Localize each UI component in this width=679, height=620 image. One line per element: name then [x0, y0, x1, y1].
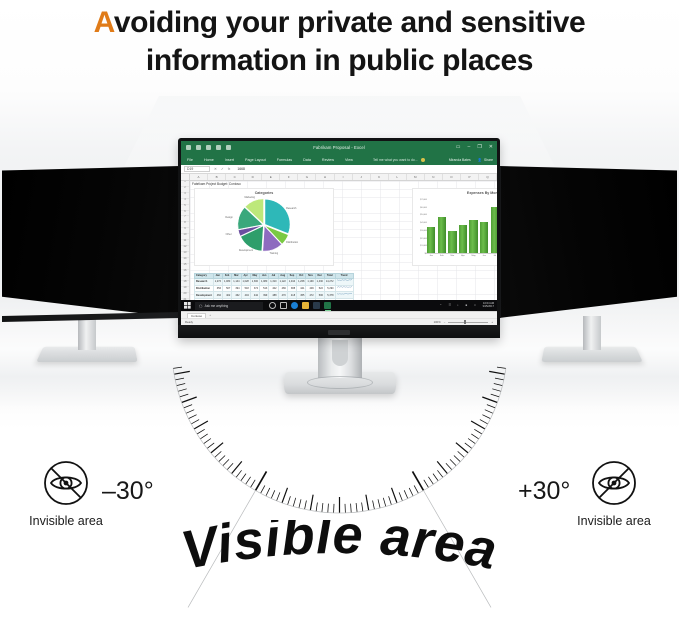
- table-cell[interactable]: 442: [250, 292, 259, 299]
- protractor-tick-major: [310, 495, 313, 511]
- tab-data[interactable]: Data: [303, 158, 311, 162]
- tab-page-layout[interactable]: Page Layout: [245, 158, 266, 162]
- sparkline-cell[interactable]: [335, 292, 353, 299]
- bar: [480, 222, 488, 253]
- bar-chart-y-tick: $0: [414, 253, 427, 255]
- column-header-m[interactable]: M: [407, 174, 425, 180]
- search-input[interactable]: ◯ Ask me anything: [195, 302, 263, 310]
- bar: [459, 225, 467, 253]
- excel-window: Fabrikam Proposal - Excel ▭ – ❐ ✕ File H…: [181, 141, 497, 325]
- protractor-tick-minor: [322, 503, 323, 512]
- table-cell[interactable]: 1,276: [213, 278, 222, 285]
- tab-review[interactable]: Review: [322, 158, 334, 162]
- protractor-tick-minor: [480, 420, 488, 424]
- zoom-in-button[interactable]: +: [491, 320, 493, 324]
- clock-date: 3/15/2017: [482, 306, 494, 309]
- column-header-n[interactable]: N: [425, 174, 443, 180]
- zoom-out-button[interactable]: −: [444, 320, 446, 324]
- table-cell[interactable]: 402: [222, 292, 231, 299]
- table-cell[interactable]: 518: [241, 285, 250, 292]
- protractor-tick-minor: [491, 394, 500, 397]
- scene-background: Avoiding your private and sensitive info…: [0, 0, 679, 620]
- tab-insert[interactable]: Insert: [225, 158, 234, 162]
- column-header-h[interactable]: H: [316, 174, 334, 180]
- protractor-tick-minor: [485, 410, 493, 414]
- task-view-icon[interactable]: [280, 302, 287, 309]
- column-header-o[interactable]: O: [443, 174, 461, 180]
- protractor-tick-minor: [373, 501, 375, 510]
- title-line-1-rest: voiding your private and sensitive: [114, 6, 586, 39]
- spreadsheet-grid[interactable]: 12345678910111213141516171819202122 Fabr…: [181, 181, 497, 311]
- bar-chart-y-tick: $5,000: [414, 214, 427, 216]
- protractor-tick-major: [282, 488, 288, 503]
- protractor-tick-minor: [316, 503, 317, 512]
- formula-bar[interactable]: D19 ✕ ✓ fx 1668: [181, 165, 497, 174]
- table-cell[interactable]: 409: [306, 285, 315, 292]
- table-cell-category[interactable]: Development: [195, 292, 214, 299]
- pie-slice-label: Research: [286, 207, 296, 210]
- tell-me-box[interactable]: Tell me what you want to do...: [373, 158, 425, 162]
- right-monitor-screen-blacked-out: [499, 166, 677, 318]
- pie-slice-label: Development: [239, 249, 253, 252]
- store-icon[interactable]: [313, 302, 320, 309]
- bar-chart-y-axis: $7,000$6,000$5,000$4,000$3,000$2,000$1,0…: [414, 199, 427, 255]
- protractor-tick-minor: [399, 492, 402, 500]
- visible-area-label: Visible area: [0, 520, 679, 610]
- table-cell[interactable]: 466: [278, 285, 287, 292]
- protractor-tick-minor: [497, 367, 506, 368]
- status-ready-label: Ready: [185, 320, 193, 324]
- protractor-tick-minor: [487, 405, 495, 408]
- table-cell[interactable]: 1,190: [306, 278, 315, 285]
- protractor-tick-minor: [468, 439, 475, 444]
- lightbulb-icon: [421, 158, 425, 162]
- table-cell[interactable]: 460: [213, 292, 222, 299]
- account-name[interactable]: Miranda Bates: [449, 158, 471, 162]
- tab-formulas[interactable]: Formulas: [277, 158, 292, 162]
- close-icon[interactable]: ✕: [489, 145, 493, 150]
- title-line-2: information in public places: [0, 42, 679, 80]
- bar-chart-bars: [427, 196, 497, 254]
- protractor-tick-minor: [454, 456, 460, 462]
- table-cell[interactable]: 441: [297, 285, 306, 292]
- bar: [448, 231, 456, 253]
- zoom-track[interactable]: [448, 322, 488, 323]
- column-header-d[interactable]: D: [244, 174, 262, 180]
- protractor-tick-minor: [428, 477, 433, 485]
- table-cell[interactable]: 1,430: [315, 278, 324, 285]
- protractor-tick-minor: [191, 420, 199, 424]
- table-cell[interactable]: 402: [269, 285, 278, 292]
- table-cell[interactable]: 455: [297, 292, 306, 299]
- add-sheet-button[interactable]: +: [209, 313, 211, 317]
- protractor-tick-minor: [184, 405, 192, 408]
- table-cell[interactable]: 14,272: [324, 278, 335, 285]
- window-controls[interactable]: ▭ – ❐ ✕: [456, 145, 493, 150]
- protractor-tick-minor: [474, 429, 482, 434]
- table-cell[interactable]: 506: [315, 292, 324, 299]
- table-cell-category[interactable]: Distribution: [195, 285, 214, 292]
- eye-blocked-icon: [591, 460, 637, 506]
- protractor-tick-minor: [471, 434, 479, 439]
- table-cell[interactable]: 5,378: [324, 292, 335, 299]
- protractor-tick-minor: [175, 378, 184, 380]
- table-cell[interactable]: 388: [287, 285, 296, 292]
- right-monitor-stand-neck: [583, 316, 601, 350]
- table-cell[interactable]: 1,080: [222, 278, 231, 285]
- row-headers[interactable]: 12345678910111213141516171819202122: [181, 181, 190, 311]
- share-label: Share: [484, 158, 493, 162]
- sparkline-cell[interactable]: [335, 285, 353, 292]
- bar: [438, 217, 446, 253]
- column-header-p[interactable]: P: [461, 174, 479, 180]
- protractor-tick-minor: [433, 474, 438, 481]
- status-line: Ready 100% − +: [181, 318, 497, 325]
- protractor-tick-minor: [465, 443, 472, 449]
- column-header-f[interactable]: F: [280, 174, 298, 180]
- pie-slice-label: Marketing: [244, 196, 255, 199]
- protractor-tick-minor: [450, 459, 456, 465]
- table-cell[interactable]: 1,044: [287, 278, 296, 285]
- protractor-tick-minor: [261, 485, 265, 493]
- bar-chart-x-tick: Jan: [427, 255, 435, 257]
- protractor-tick-minor: [482, 415, 490, 419]
- bar: [491, 207, 497, 253]
- protractor-tick-30: [256, 471, 267, 490]
- table-cell[interactable]: 1,028: [241, 278, 250, 285]
- protractor-tick-minor: [236, 470, 242, 477]
- cancel-formula-icon[interactable]: ✕: [214, 167, 217, 171]
- zoom-knob[interactable]: [464, 320, 466, 324]
- bar-chart-x-tick: Apr: [459, 255, 467, 257]
- excel-status-bar: Contoso + Ready 100% − +: [181, 311, 497, 325]
- tab-home[interactable]: Home: [204, 158, 214, 162]
- left-monitor-screen-blacked-out: [2, 166, 180, 318]
- excel-title-bar: Fabrikam Proposal - Excel ▭ – ❐ ✕: [181, 141, 497, 154]
- edge-icon[interactable]: [291, 302, 298, 309]
- bar-chart-title: Expenses By Month: [413, 189, 497, 195]
- bar-chart-x-tick: Feb: [438, 255, 446, 257]
- column-header-b[interactable]: B: [208, 174, 226, 180]
- page-title: Avoiding your private and sensitive info…: [0, 0, 679, 81]
- table-cell[interactable]: 522: [315, 285, 324, 292]
- table-cell[interactable]: 470: [278, 292, 287, 299]
- formula-bar-value[interactable]: 1668: [237, 167, 245, 171]
- tab-view[interactable]: View: [345, 158, 353, 162]
- invisible-area-badge-right: Invisible area: [562, 460, 666, 528]
- table-cell[interactable]: 1,268: [297, 278, 306, 285]
- center-monitor-bezel: Fabrikam Proposal - Excel ▭ – ❐ ✕ File H…: [178, 138, 500, 338]
- table-cell[interactable]: 418: [287, 292, 296, 299]
- table-cell[interactable]: 1,300: [250, 278, 259, 285]
- protractor-tick-major: [232, 461, 242, 473]
- protractor-tick-minor: [204, 439, 211, 444]
- protractor-tick-minor: [437, 470, 443, 477]
- sheet-tab-contoso[interactable]: Contoso: [187, 313, 206, 318]
- protractor-tick-minor: [414, 485, 418, 493]
- table-cell[interactable]: 507: [222, 285, 231, 292]
- bar-chart-x-tick: Mar: [448, 255, 456, 257]
- restore-icon[interactable]: ❐: [477, 145, 481, 150]
- center-monitor-screen: Fabrikam Proposal - Excel ▭ – ❐ ✕ File H…: [181, 141, 497, 325]
- protractor-tick-major: [392, 488, 398, 503]
- protractor-tick-minor: [197, 429, 205, 434]
- battery-icon[interactable]: ■: [465, 303, 470, 308]
- protractor-tick-minor: [492, 389, 501, 392]
- pie-chart-svg: [233, 197, 295, 253]
- windows-taskbar[interactable]: ◯ Ask me anything ^ ☰ ♪: [181, 300, 497, 311]
- table-cell[interactable]: 1,122: [278, 278, 287, 285]
- right-monitor: [499, 166, 677, 318]
- column-header-e[interactable]: E: [262, 174, 280, 180]
- protractor-tick-minor: [180, 394, 189, 397]
- protractor-tick-minor: [246, 477, 251, 485]
- bar-chart-y-tick: $2,000: [414, 238, 427, 240]
- excel-document-title: Fabrikam Proposal - Excel: [181, 145, 497, 150]
- table-cell[interactable]: 5,290: [324, 285, 335, 292]
- center-monitor: Fabrikam Proposal - Excel ▭ – ❐ ✕ File H…: [178, 138, 500, 338]
- table-row[interactable]: Development46040246240444239948847041845…: [195, 292, 354, 299]
- protractor-tick-major: [456, 443, 468, 453]
- column-header-i[interactable]: I: [335, 174, 353, 180]
- table-cell[interactable]: 394: [232, 285, 241, 292]
- bar-chart-x-tick: Jul: [491, 255, 497, 257]
- protractor-tick-minor: [356, 503, 357, 512]
- search-placeholder: Ask me anything: [205, 304, 229, 308]
- protractor-tick-minor: [189, 415, 197, 419]
- column-header-g[interactable]: G: [298, 174, 316, 180]
- table-cell[interactable]: 374: [250, 285, 259, 292]
- protractor-tick-minor: [241, 474, 246, 481]
- protractor-tick-minor: [495, 378, 504, 380]
- table-cell[interactable]: 399: [260, 292, 269, 299]
- protractor-tick-minor: [362, 503, 363, 512]
- protractor-tick-minor: [288, 496, 291, 505]
- pie-slice-label: Distribution: [286, 241, 298, 244]
- protractor-tick-minor: [378, 499, 380, 508]
- protractor-tick-minor: [266, 488, 270, 496]
- file-explorer-icon[interactable]: [302, 302, 309, 309]
- table-cell[interactable]: 356: [213, 285, 222, 292]
- protractor-tick-minor: [409, 488, 413, 496]
- protractor-tick-minor: [186, 410, 194, 414]
- bar-chart-y-tick: $1,000: [414, 245, 427, 247]
- share-button[interactable]: 👤 Share: [478, 158, 493, 162]
- protractor-tick-minor: [177, 384, 186, 386]
- table-cell[interactable]: 1,080: [260, 278, 269, 285]
- network-icon[interactable]: ☰: [448, 303, 453, 308]
- action-center-icon[interactable]: □: [474, 303, 479, 308]
- start-button[interactable]: [181, 300, 193, 311]
- windows-start-icon: [184, 302, 191, 309]
- formula-bar-buttons[interactable]: ✕ ✓ fx: [214, 167, 230, 171]
- sheet-area[interactable]: Fabrikam Project Budget: Contoso Categor…: [190, 181, 497, 311]
- center-monitor-stand-slot: [332, 340, 348, 366]
- bar-chart-y-tick: $4,000: [414, 222, 427, 224]
- bar-chart-y-tick: $6,000: [414, 207, 427, 209]
- title-capital-letter: A: [94, 6, 114, 39]
- protractor-tick-major: [482, 397, 497, 403]
- cell-a1-text[interactable]: Fabrikam Project Budget: Contoso: [192, 182, 241, 186]
- protractor-tick-minor: [293, 498, 296, 507]
- select-all-corner[interactable]: [181, 174, 190, 180]
- column-header-q[interactable]: Q: [479, 174, 497, 180]
- bar-chart-x-tick: May: [469, 255, 477, 257]
- protractor-tick-major: [366, 495, 369, 511]
- table-cell[interactable]: 1,144: [232, 278, 241, 285]
- sparkline: [337, 279, 352, 283]
- person-icon: 👤: [478, 158, 482, 162]
- pie-slice-label: Design: [225, 216, 232, 219]
- title-line-1: Avoiding your private and sensitive: [0, 4, 679, 42]
- ribbon-options-icon[interactable]: ▭: [456, 145, 461, 150]
- column-header-j[interactable]: J: [353, 174, 371, 180]
- zoom-level-label: 100%: [434, 320, 441, 324]
- minimize-icon[interactable]: –: [468, 145, 471, 150]
- protractor-tick-minor: [178, 389, 187, 392]
- protractor-tick-minor: [215, 451, 222, 457]
- protractor-tick-minor: [219, 456, 225, 462]
- protractor-tick-minor: [404, 490, 408, 498]
- protractor-tick-minor: [383, 498, 386, 507]
- bar: [469, 220, 477, 253]
- column-headers[interactable]: A B C D E F G H I J K L M N O: [181, 174, 497, 181]
- protractor-tick-minor: [223, 459, 229, 465]
- protractor-tick-minor: [305, 501, 307, 510]
- pie-slice-label: Training: [270, 252, 279, 255]
- protractor-tick-minor: [299, 499, 301, 508]
- protractor-tick-major: [437, 461, 447, 473]
- accept-formula-icon[interactable]: ✓: [221, 167, 224, 171]
- bar-chart-y-tick: $7,000: [414, 199, 427, 201]
- column-header-a[interactable]: A: [190, 174, 208, 180]
- bar-chart-x-tick: Jun: [480, 255, 488, 257]
- center-monitor-chin: [178, 325, 500, 338]
- table-cell[interactable]: 404: [241, 292, 250, 299]
- search-icon: ◯: [199, 304, 203, 308]
- protractor-tick-minor: [458, 451, 465, 457]
- tell-me-text: Tell me what you want to do...: [373, 158, 418, 162]
- bar: [427, 227, 435, 253]
- zoom-slider[interactable]: 100% − +: [434, 320, 493, 324]
- bar-chart-x-axis: JanFebMarAprMayJunJulAugSepOctNovDec: [427, 255, 497, 257]
- protractor-tick-minor: [207, 443, 214, 449]
- sparkline: [337, 293, 352, 297]
- column-header-c[interactable]: C: [226, 174, 244, 180]
- bar-chart[interactable]: Expenses By Month $7,000$6,000$5,000$4,0…: [412, 188, 497, 266]
- protractor-tick-minor: [494, 384, 503, 386]
- column-header-k[interactable]: K: [371, 174, 389, 180]
- sparkline: [337, 286, 352, 290]
- name-box[interactable]: D19: [184, 166, 210, 172]
- tab-file[interactable]: File: [187, 158, 193, 162]
- volume-icon[interactable]: ♪: [457, 303, 462, 308]
- excel-icon[interactable]: [324, 302, 331, 309]
- protractor-tick-minor: [424, 480, 429, 488]
- protractor-tick-major: [182, 397, 197, 403]
- protractor-tick-major: [471, 421, 485, 429]
- visible-area-text: Visible area: [176, 520, 502, 581]
- protractor-tick-minor: [271, 490, 275, 498]
- taskbar-pinned-icons[interactable]: [269, 302, 331, 309]
- left-monitor-stand-neck: [78, 316, 96, 350]
- table-row[interactable]: Research1,2761,0801,1441,0281,3001,0801,…: [195, 278, 354, 285]
- clock[interactable]: 10:04 AM 3/15/2017: [482, 303, 494, 309]
- protractor-tick-minor: [277, 492, 280, 500]
- insert-function-icon[interactable]: fx: [228, 167, 231, 171]
- protractor-tick-minor: [446, 463, 452, 470]
- show-hidden-icons-icon[interactable]: ^: [440, 303, 445, 308]
- sparkline-cell[interactable]: [335, 278, 353, 285]
- bar-chart-y-tick: $3,000: [414, 230, 427, 232]
- invisible-area-badge-left: Invisible area: [14, 460, 118, 528]
- table-cell[interactable]: 488: [269, 292, 278, 299]
- protractor-tick-minor: [351, 504, 352, 513]
- protractor-tick-minor: [173, 367, 182, 368]
- protractor-tick-major: [174, 371, 190, 374]
- table-cell[interactable]: 1,310: [269, 278, 278, 285]
- pie-chart[interactable]: Categories ResearchDistributionTrainingD…: [194, 188, 334, 266]
- eye-blocked-icon: [43, 460, 89, 506]
- account-area[interactable]: Miranda Bates 👤 Share: [449, 158, 493, 162]
- protractor-tick-minor: [251, 480, 256, 488]
- protractor-tick-major: [489, 371, 505, 374]
- left-monitor: [2, 166, 180, 318]
- protractor-tick-30: [413, 471, 424, 490]
- protractor-tick-minor: [389, 496, 392, 505]
- table-cell[interactable]: 513: [260, 285, 269, 292]
- protractor-tick-major: [194, 421, 208, 429]
- protractor-tick-minor: [227, 463, 233, 470]
- protractor-tick-major: [211, 443, 223, 453]
- monitor-brand-logo: [328, 330, 350, 335]
- table-cell[interactable]: 462: [232, 292, 241, 299]
- center-monitor-base-ring: [307, 376, 373, 389]
- pie-slice-label: Other: [226, 233, 232, 236]
- protractor-tick-minor: [328, 504, 329, 513]
- system-tray[interactable]: ^ ☰ ♪ ■ □ 10:04 AM 3/15/2017: [440, 303, 497, 309]
- cortana-icon[interactable]: [269, 302, 276, 309]
- table-cell[interactable]: 472: [306, 292, 315, 299]
- table-cell-category[interactable]: Research: [195, 278, 214, 285]
- excel-ribbon-tabs[interactable]: File Home Insert Page Layout Formulas Da…: [181, 154, 497, 165]
- pie-chart-plot: ResearchDistributionTrainingDevelopmentO…: [195, 195, 333, 257]
- table-row[interactable]: Distribution3565073945183745134024663884…: [195, 285, 354, 292]
- column-header-l[interactable]: L: [389, 174, 407, 180]
- protractor-tick-minor: [200, 434, 208, 439]
